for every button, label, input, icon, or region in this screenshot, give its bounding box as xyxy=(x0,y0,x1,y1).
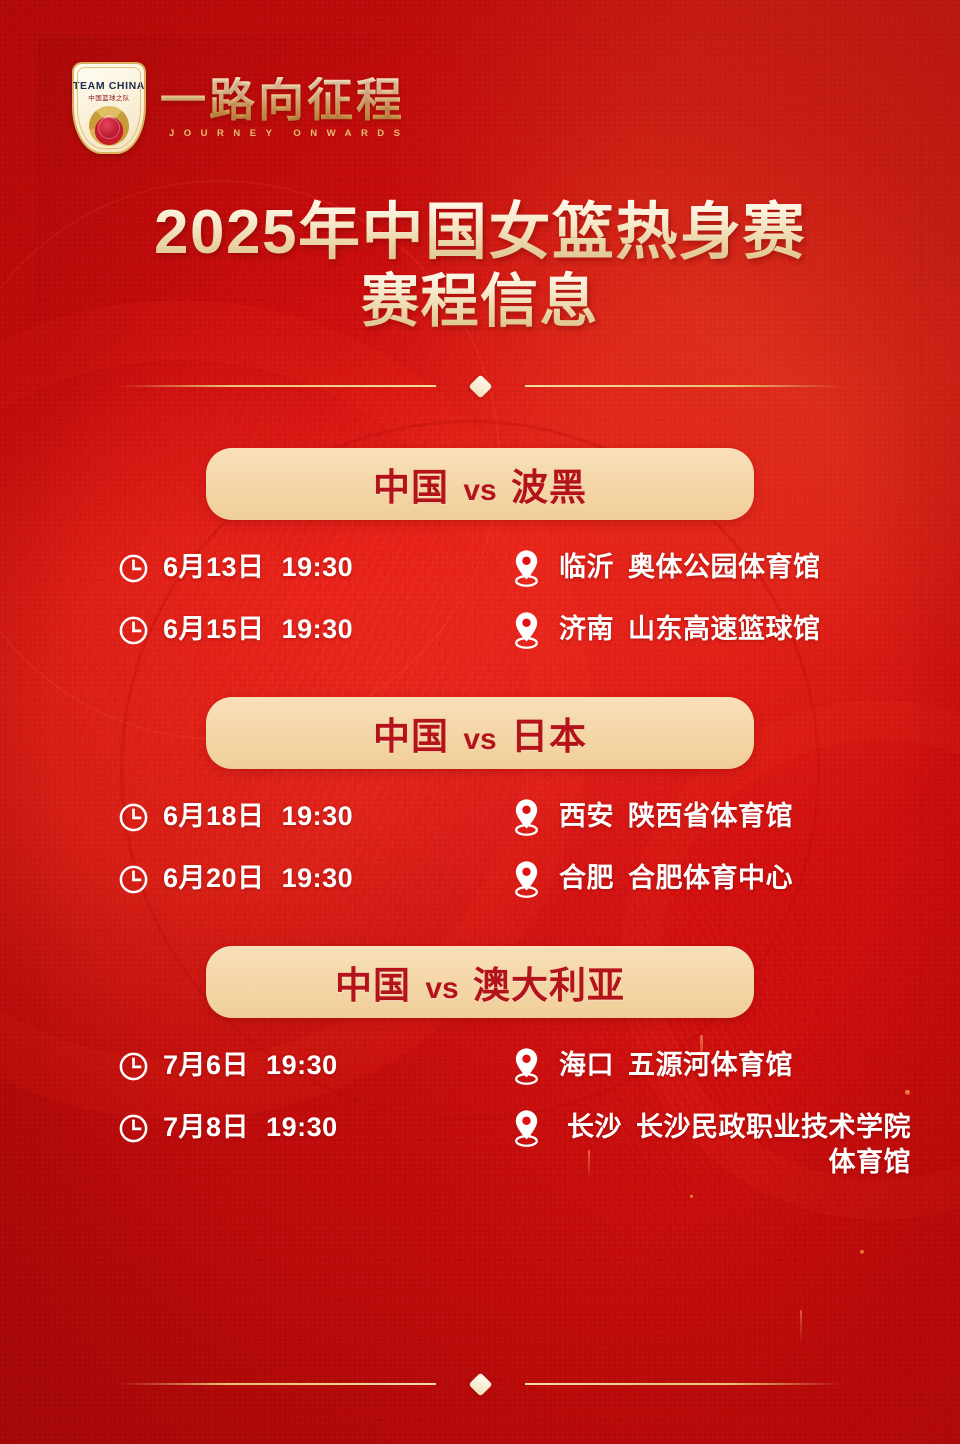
divider-rule-left xyxy=(118,1383,436,1385)
game-time-cell: 6月13日19:30 xyxy=(118,550,510,584)
game-venue: 西安陕西省体育馆 xyxy=(559,799,793,834)
away-team: 澳大利亚 xyxy=(473,965,625,1006)
location-pin-icon xyxy=(510,1108,543,1148)
clock-icon xyxy=(118,615,149,646)
game-time: 19:30 xyxy=(282,552,354,582)
divider-rule-right xyxy=(525,385,843,387)
game-time-cell: 6月20日19:30 xyxy=(118,861,510,895)
game-time: 19:30 xyxy=(266,1050,338,1080)
game-row: 6月15日19:30 济南山东高速篮球馆 xyxy=(0,612,960,670)
badge-team-cn: 中国篮球之队 xyxy=(88,96,129,103)
venue-name: 山东高速篮球馆 xyxy=(628,614,821,644)
matchup-pill[interactable]: 中国 vs 日本 xyxy=(206,697,754,769)
location-pin-icon xyxy=(510,548,543,588)
location-pin-icon xyxy=(510,610,543,650)
diamond-gem-icon xyxy=(468,1372,492,1396)
location-pin-icon xyxy=(510,859,543,899)
game-rows: 6月13日19:30 临沂奥体公园体育馆 xyxy=(0,550,960,670)
away-team: 波黑 xyxy=(511,467,587,508)
game-date: 6月20日 xyxy=(163,863,265,893)
game-venue-cell: 长沙长沙民政职业技术学院体育馆 xyxy=(510,1110,960,1179)
location-pin-icon xyxy=(510,797,543,837)
home-team: 中国 xyxy=(373,716,449,757)
game-venue: 合肥合肥体育中心 xyxy=(559,861,793,896)
game-date: 6月18日 xyxy=(163,801,265,831)
game-datetime: 7月8日19:30 xyxy=(163,1113,338,1141)
match-list: 中国 vs 波黑 6月13日19:30 xyxy=(0,448,960,1168)
venue-city: 临沂 xyxy=(559,552,614,582)
clock-icon xyxy=(118,864,149,895)
matchup-pill[interactable]: 中国 vs 波黑 xyxy=(206,448,754,520)
location-pin-icon xyxy=(510,1046,543,1086)
campaign-slogan-en: JOURNEY ONWARDS xyxy=(160,128,410,139)
game-time: 19:30 xyxy=(282,863,354,893)
home-team: 中国 xyxy=(335,965,411,1006)
game-time: 19:30 xyxy=(282,801,354,831)
game-venue-cell: 合肥合肥体育中心 xyxy=(510,861,960,899)
matchup-label: 中国 vs 日本 xyxy=(373,706,587,760)
campaign-lockup: 一路向征程 JOURNEY ONWARDS xyxy=(160,77,410,140)
venue-name: 五源河体育馆 xyxy=(628,1050,793,1080)
game-date: 6月13日 xyxy=(163,552,265,582)
basketball-dragon-emblem-icon xyxy=(89,106,129,146)
clock-icon xyxy=(118,802,149,833)
game-row: 7月6日19:30 海口五源河体育馆 xyxy=(0,1048,960,1106)
game-venue-cell: 临沂奥体公园体育馆 xyxy=(510,550,960,588)
venue-city: 海口 xyxy=(559,1050,614,1080)
game-datetime: 6月13日19:30 xyxy=(163,553,353,581)
game-row: 6月20日19:30 合肥合肥体育中心 xyxy=(0,861,960,919)
page-title-line-2: 赛程信息 xyxy=(0,269,960,335)
game-time-cell: 6月15日19:30 xyxy=(118,612,510,646)
away-team: 日本 xyxy=(511,716,587,757)
campaign-slogan-cn: 一路向征程 xyxy=(160,77,410,124)
matchup-label: 中国 vs 波黑 xyxy=(373,457,587,511)
game-venue: 临沂奥体公园体育馆 xyxy=(559,550,821,585)
clock-icon xyxy=(118,1113,149,1144)
venue-name: 奥体公园体育馆 xyxy=(628,552,821,582)
divider-bottom xyxy=(118,1378,842,1390)
diamond-gem-icon xyxy=(468,374,492,398)
game-time-cell: 7月6日19:30 xyxy=(118,1048,510,1082)
match-block: 中国 vs 波黑 6月13日19:30 xyxy=(0,448,960,670)
game-date: 7月8日 xyxy=(163,1112,249,1142)
game-venue: 长沙长沙民政职业技术学院体育馆 xyxy=(559,1110,911,1179)
venue-name: 长沙民政职业技术学院体育馆 xyxy=(636,1112,911,1177)
page-title: 2025年中国女篮热身赛 赛程信息 xyxy=(0,198,960,335)
venue-city: 西安 xyxy=(559,801,614,831)
game-date: 6月15日 xyxy=(163,614,265,644)
game-rows: 6月18日19:30 西安陕西省体育馆 xyxy=(0,799,960,919)
venue-name: 陕西省体育馆 xyxy=(628,801,793,831)
game-venue-cell: 西安陕西省体育馆 xyxy=(510,799,960,837)
game-rows: 7月6日19:30 海口五源河体育馆 xyxy=(0,1048,960,1168)
venue-city: 长沙 xyxy=(567,1112,622,1142)
vs-label: vs xyxy=(460,723,499,756)
venue-city: 济南 xyxy=(559,614,614,644)
team-china-badge: TEAM CHINA 中国篮球之队 xyxy=(72,62,146,154)
game-datetime: 6月15日19:30 xyxy=(163,615,353,643)
game-datetime: 6月18日19:30 xyxy=(163,802,353,830)
venue-city: 合肥 xyxy=(559,863,614,893)
divider-top xyxy=(118,380,842,392)
game-time-cell: 7月8日19:30 xyxy=(118,1110,510,1144)
home-team: 中国 xyxy=(373,467,449,508)
game-venue-cell: 海口五源河体育馆 xyxy=(510,1048,960,1086)
vs-label: vs xyxy=(460,474,499,507)
game-row: 6月13日19:30 临沂奥体公园体育馆 xyxy=(0,550,960,608)
page-title-line-1: 2025年中国女篮热身赛 xyxy=(0,198,960,269)
game-time-cell: 6月18日19:30 xyxy=(118,799,510,833)
matchup-label: 中国 vs 澳大利亚 xyxy=(335,955,625,1009)
game-venue: 济南山东高速篮球馆 xyxy=(559,612,821,647)
game-datetime: 7月6日19:30 xyxy=(163,1051,338,1079)
divider-rule-right xyxy=(525,1383,843,1385)
clock-icon xyxy=(118,1051,149,1082)
matchup-pill[interactable]: 中国 vs 澳大利亚 xyxy=(206,946,754,1018)
match-block: 中国 vs 澳大利亚 7月6日19:30 xyxy=(0,946,960,1168)
badge-team-en: TEAM CHINA xyxy=(73,81,145,92)
venue-name: 合肥体育中心 xyxy=(628,863,793,893)
game-row: 6月18日19:30 西安陕西省体育馆 xyxy=(0,799,960,857)
vs-label: vs xyxy=(422,972,461,1005)
brand-header: TEAM CHINA 中国篮球之队 一路向征程 JOURNEY ONWARDS xyxy=(72,62,410,154)
game-row: 7月8日19:30 长沙长沙民政职业技术学院体育馆 xyxy=(0,1110,960,1168)
divider-rule-left xyxy=(118,385,436,387)
game-datetime: 6月20日19:30 xyxy=(163,864,353,892)
clock-icon xyxy=(118,553,149,584)
poster-content: TEAM CHINA 中国篮球之队 一路向征程 JOURNEY ONWARDS … xyxy=(0,0,960,1444)
game-time: 19:30 xyxy=(282,614,354,644)
game-date: 7月6日 xyxy=(163,1050,249,1080)
game-venue: 海口五源河体育馆 xyxy=(559,1048,793,1083)
game-venue-cell: 济南山东高速篮球馆 xyxy=(510,612,960,650)
match-block: 中国 vs 日本 6月18日19:30 xyxy=(0,697,960,919)
game-time: 19:30 xyxy=(266,1112,338,1142)
